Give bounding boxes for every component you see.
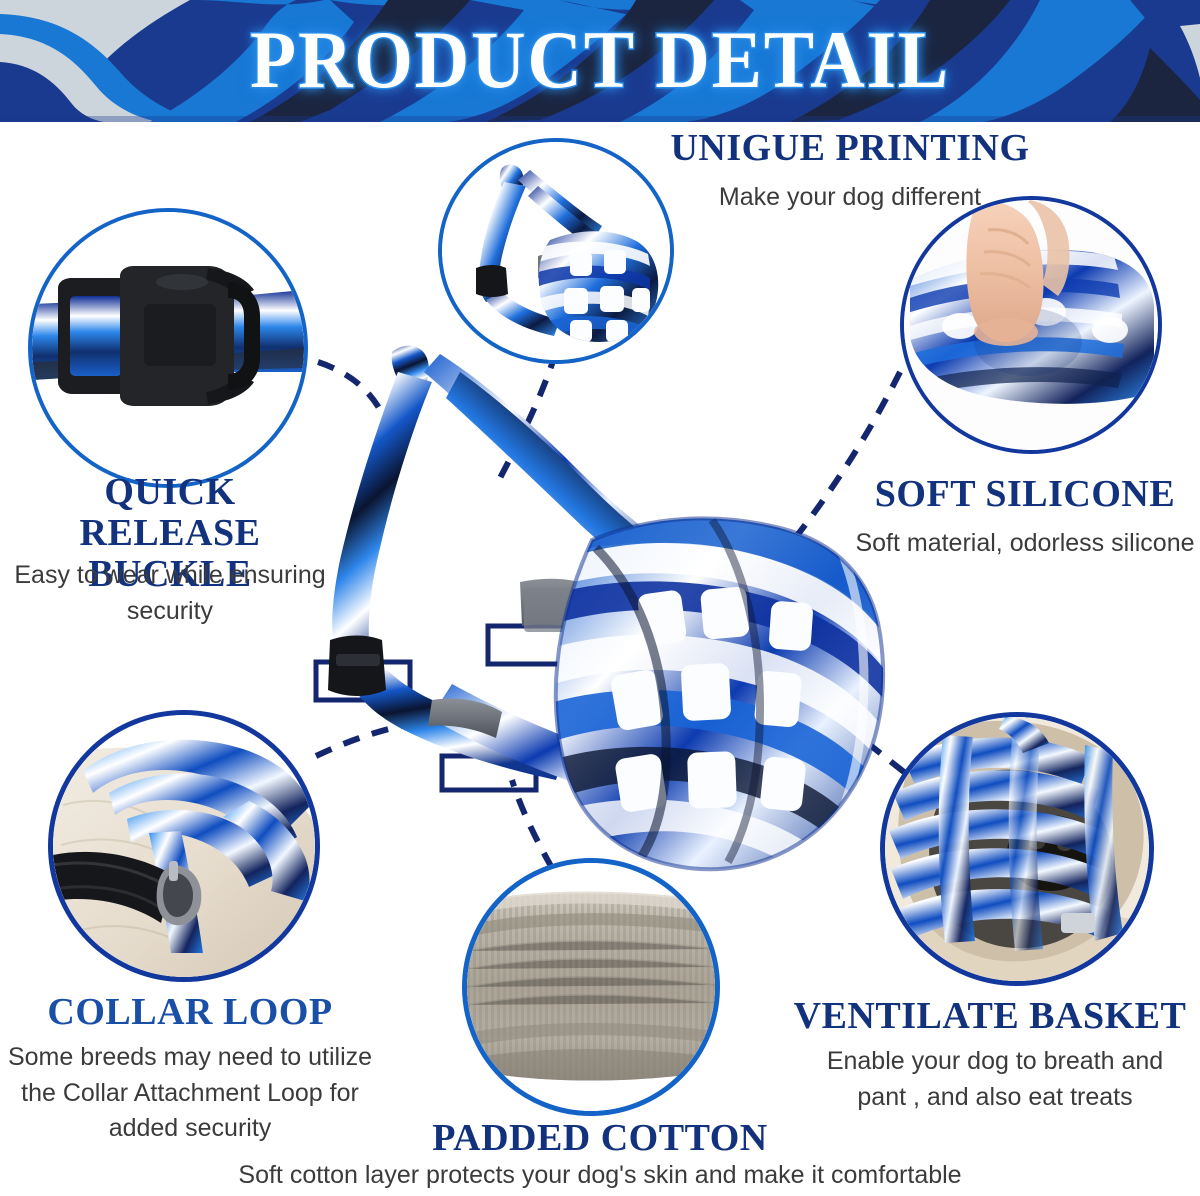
feature-title-soft-silicone: SOFT SILICONE bbox=[850, 474, 1200, 515]
highlight-box-collar-loop-strap bbox=[442, 756, 536, 790]
photo-circle-collar-loop bbox=[48, 710, 320, 982]
feature-subtitle-ventilate-basket: Enable your dog to breath and pant , and… bbox=[790, 1044, 1200, 1115]
feature-title-unique-printing: UNIGUE PRINTING bbox=[640, 128, 1060, 169]
dash-connector-unique-printing bbox=[500, 352, 556, 478]
photo-circle-soft-silicone bbox=[900, 196, 1162, 454]
photo-circle-ventilate-basket bbox=[880, 712, 1154, 986]
highlight-box-silicone-basket bbox=[692, 538, 786, 578]
photo-circle-quick-release-buckle bbox=[28, 208, 308, 488]
highlight-box-buckle-strap bbox=[316, 662, 410, 700]
feature-title-padded-cotton: PADDED COTTON bbox=[400, 1118, 800, 1159]
product-detail-infographic: PRODUCT DETAIL bbox=[0, 0, 1200, 1196]
feature-subtitle-quick-release-buckle: Easy to wear while ensuring security bbox=[0, 558, 340, 629]
feature-title-collar-loop: COLLAR LOOP bbox=[0, 992, 380, 1033]
dash-connector-collar-loop bbox=[316, 720, 440, 756]
photo-circle-padded-cotton bbox=[462, 858, 720, 1116]
highlight-box-padded-cotton-strap bbox=[488, 626, 580, 664]
feature-title-ventilate-basket: VENTILATE BASKET bbox=[780, 996, 1200, 1037]
header-banner: PRODUCT DETAIL bbox=[0, 0, 1200, 122]
page-title: PRODUCT DETAIL bbox=[48, 8, 1152, 112]
photo-circle-unique-printing bbox=[438, 138, 674, 364]
feature-subtitle-soft-silicone: Soft material, odorless silicone bbox=[850, 526, 1200, 562]
dash-connector-buckle bbox=[318, 362, 398, 470]
feature-subtitle-collar-loop: Some breeds may need to utilize the Coll… bbox=[0, 1040, 380, 1147]
feature-subtitle-unique-printing: Make your dog different bbox=[640, 180, 1060, 216]
dash-connector-padded-cotton bbox=[512, 780, 552, 868]
feature-subtitle-padded-cotton: Soft cotton layer protects your dog's sk… bbox=[220, 1158, 980, 1194]
dash-connector-soft-silicone bbox=[784, 372, 900, 552]
